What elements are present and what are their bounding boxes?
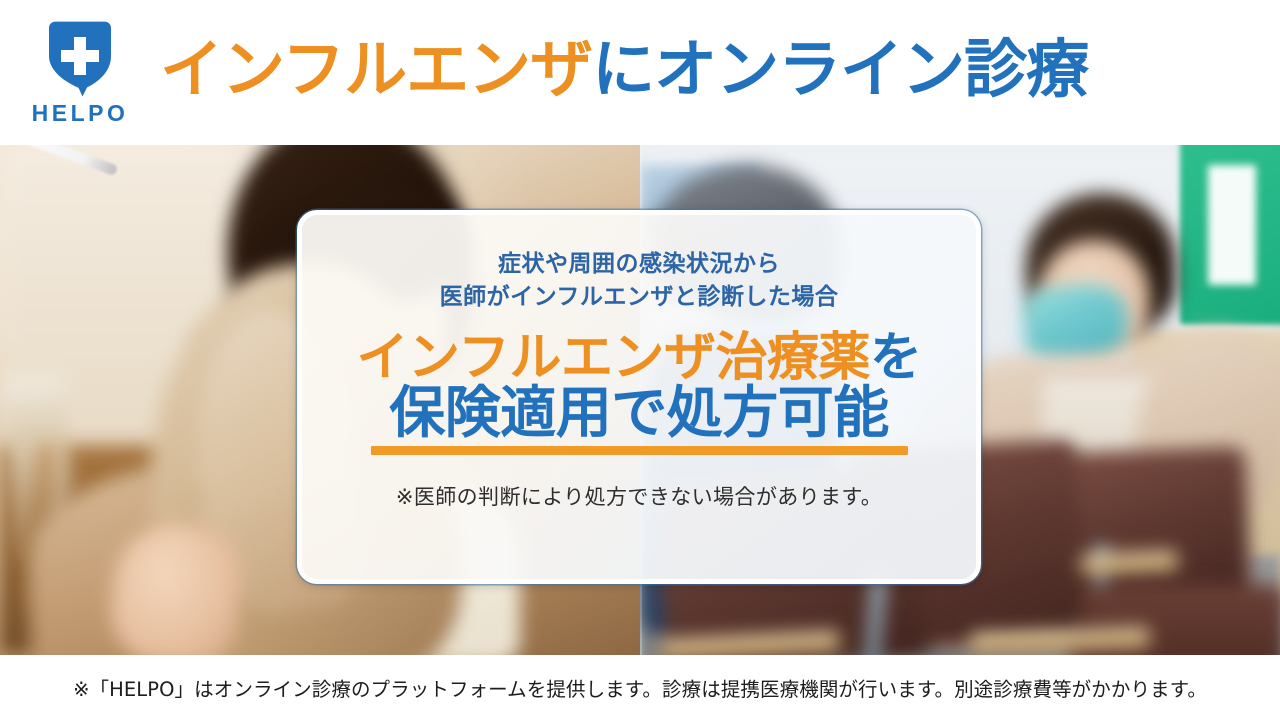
headline-underline (371, 446, 908, 455)
footer-disclaimer: ※「HELPO」はオンライン診療のプラットフォームを提供します。診療は提携医療機… (73, 673, 1207, 702)
card-subtitle-line2: 医師がインフルエンザと診断した場合 (440, 281, 839, 314)
page-title: インフルエンザにオンライン診療 (160, 38, 1280, 107)
card-headline: インフルエンザ治療薬を 保険適用で処方可能 (357, 332, 922, 442)
card-headline-line2: 保険適用で処方可能 (357, 385, 922, 442)
card-headline-line1-blue: を (870, 328, 922, 388)
card-note: ※医師の判断により処方できない場合があります。 (396, 481, 882, 511)
shield-plus-icon (43, 21, 117, 97)
card-subtitle-line1: 症状や周囲の感染状況から (440, 248, 839, 281)
info-card: 症状や周囲の感染状況から 医師がインフルエンザと診断した場合 インフルエンザ治療… (297, 210, 981, 584)
helpo-logo[interactable]: HELPO (0, 0, 160, 145)
page-footer: ※「HELPO」はオンライン診療のプラットフォームを提供します。診療は提携医療機… (0, 655, 1280, 720)
card-subtitle: 症状や周囲の感染状況から 医師がインフルエンザと診断した場合 (440, 248, 839, 315)
page-title-orange: インフルエンザ (160, 33, 592, 106)
page-title-blue: にオンライン診療 (592, 33, 1088, 106)
white-poster (1208, 165, 1256, 285)
page-header: HELPO インフルエンザにオンライン診療 (0, 0, 1280, 145)
card-headline-line1-orange: インフルエンザ治療薬 (357, 328, 870, 388)
helpo-logo-text: HELPO (32, 102, 129, 125)
card-headline-line1: インフルエンザ治療薬を (357, 332, 922, 385)
